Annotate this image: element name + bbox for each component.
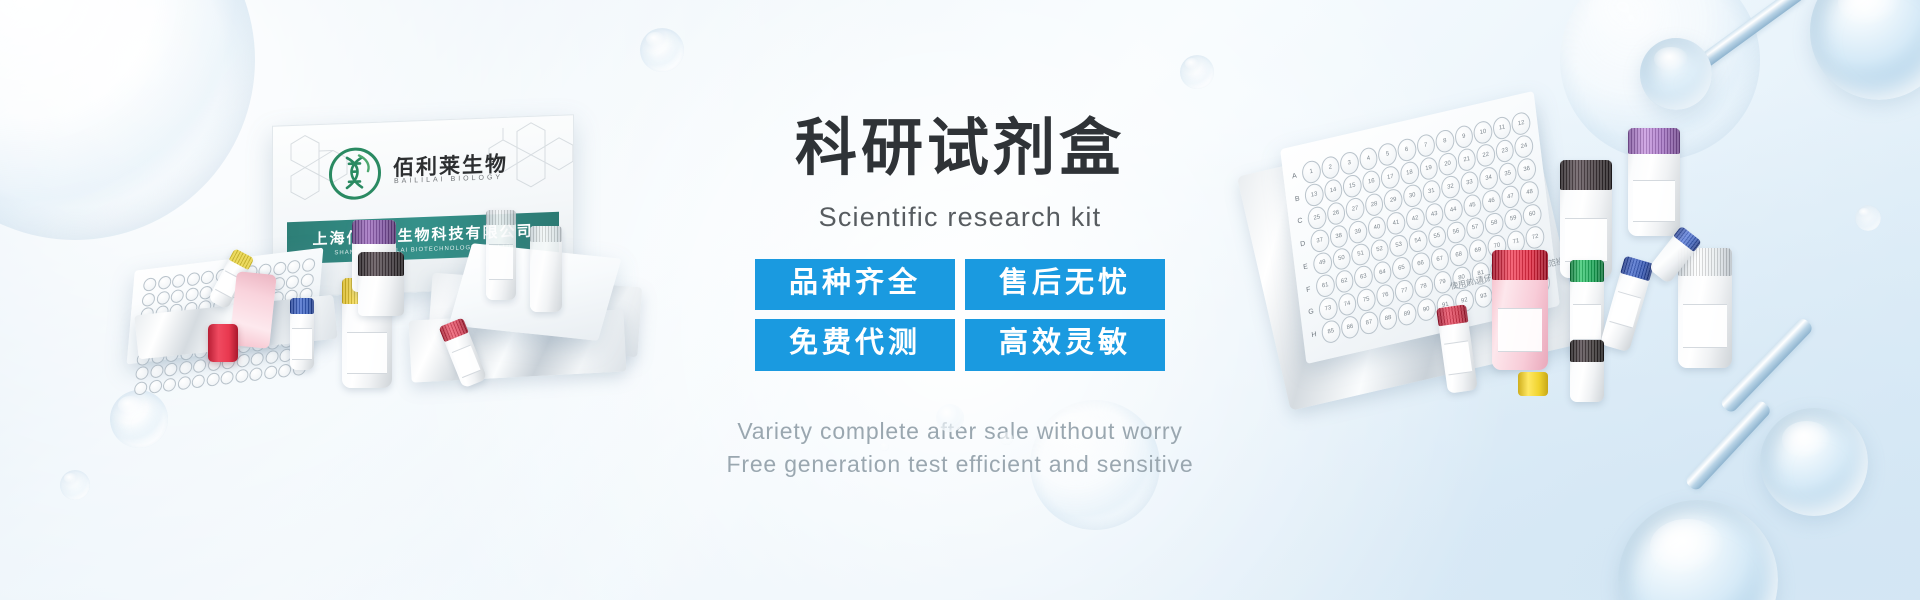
microplate-well: 58: [1484, 211, 1505, 237]
microplate-well: 47: [1500, 183, 1521, 209]
microplate-well: 33: [1459, 169, 1480, 195]
microplate-well: 24: [1514, 133, 1535, 159]
black-cap-vial: [1570, 340, 1604, 402]
microplate-well: 28: [1364, 191, 1385, 217]
microplate-well: 42: [1405, 205, 1426, 231]
vial-label: [1573, 304, 1600, 340]
yellow-cap-vial: [1518, 372, 1548, 396]
microplate-well: 60: [1522, 202, 1543, 228]
bubble-decoration: [1180, 55, 1214, 89]
microplate-well: [148, 379, 162, 394]
microplate-well: 87: [1359, 310, 1380, 336]
microplate-well: 18: [1399, 160, 1420, 186]
microplate-well: [141, 292, 155, 307]
microplate-well: 5: [1377, 141, 1398, 167]
molecule-atom: [1760, 408, 1868, 516]
vial-label: [1633, 180, 1675, 222]
vial-label: [292, 328, 311, 360]
microplate-well: [300, 272, 314, 287]
microplate-well: 36: [1516, 156, 1537, 182]
vial-label: [1683, 304, 1726, 348]
microplate-well: 45: [1462, 192, 1483, 218]
microplate-well: 29: [1383, 187, 1404, 213]
water-droplet-icon: [1000, 432, 1013, 445]
microplate-well: 59: [1503, 206, 1524, 232]
vial-cap: [1570, 340, 1604, 362]
vial-cap: [1620, 256, 1654, 282]
red-screw-cap: [208, 324, 238, 362]
microplate-well: [186, 272, 200, 287]
molecule-atom: [1640, 38, 1712, 110]
microplate-well: [287, 259, 301, 274]
microplate-well: [149, 364, 163, 379]
microplate-well: [249, 366, 263, 381]
page-title: 科研试剂盒: [560, 118, 1360, 180]
microplate-well: 22: [1475, 142, 1496, 168]
vial-label: [1444, 340, 1472, 375]
microplate-well: [156, 290, 170, 305]
microplate-well: 69: [1468, 238, 1489, 264]
clear-vial: [486, 210, 516, 300]
microplate-well: 93: [1473, 284, 1494, 310]
microplate-well: 46: [1481, 188, 1502, 214]
molecule-bond: [1684, 399, 1773, 493]
microplate-well: 90: [1416, 297, 1437, 323]
vial-cap: [352, 220, 396, 244]
microplate-well: 23: [1494, 138, 1515, 164]
microplate-well: [200, 270, 214, 285]
microplate-well: 72: [1525, 225, 1546, 251]
microplate-well: [234, 368, 248, 383]
red-cap-bottle: [1492, 250, 1548, 370]
microplate-well: [191, 373, 205, 388]
microplate-well: [250, 352, 264, 367]
feature-badge-row: 免费代测 高效灵敏: [755, 319, 1165, 370]
microplate-well: [301, 258, 315, 273]
microplate-well: 54: [1407, 228, 1428, 254]
microplate-well: [134, 380, 148, 395]
water-droplet-icon: [880, 442, 889, 451]
microplate-well: 68: [1448, 242, 1469, 268]
microplate-well: 66: [1410, 251, 1431, 277]
microplate-well: 56: [1446, 219, 1467, 245]
blue-cap-vial: [290, 298, 314, 370]
vial-cap: [530, 226, 562, 242]
feature-badge-variety[interactable]: 品种齐全: [755, 259, 955, 310]
microplate-well: 48: [1519, 179, 1540, 205]
microplate-well: [178, 360, 192, 375]
microplate-well: 41: [1386, 210, 1407, 236]
vial-label: [489, 244, 513, 280]
microplate-well: 9: [1454, 124, 1475, 150]
microplate-well: 19: [1418, 155, 1439, 181]
microplate-well: 67: [1429, 247, 1450, 273]
microplate-well: 21: [1456, 147, 1477, 173]
molecule-atom: [1810, 0, 1920, 100]
microplate-well: 4: [1358, 146, 1379, 172]
microplate-well: 53: [1388, 233, 1409, 259]
microplate-well: 76: [1375, 283, 1396, 309]
microplate-well: 88: [1378, 306, 1399, 332]
microplate-well: 40: [1367, 214, 1388, 240]
microplate-well: 55: [1427, 224, 1448, 250]
microplate-well: [164, 362, 178, 377]
microplate-well: 57: [1465, 215, 1486, 241]
dna-helix-logo: [329, 147, 381, 201]
microplate-well: [285, 274, 299, 289]
microplate-well: 65: [1391, 255, 1412, 281]
dark-cap-bottle: [358, 252, 404, 316]
microplate-well: 78: [1413, 274, 1434, 300]
microplate-well: [193, 359, 207, 374]
microplate-well: 31: [1421, 178, 1442, 204]
feature-badge-free-test[interactable]: 免费代测: [755, 319, 955, 370]
microplate-well: 12: [1511, 111, 1532, 137]
microplate-well: 89: [1397, 301, 1418, 327]
microplate-well: [185, 287, 199, 302]
microplate-well: [177, 375, 191, 390]
microplate-well: 10: [1473, 119, 1494, 145]
microplate-well: [143, 277, 157, 292]
vial-label: [1498, 308, 1543, 352]
microplate-well: 20: [1437, 151, 1458, 177]
white-bottle: [1678, 248, 1732, 368]
microplate-well: 7: [1415, 133, 1436, 159]
vial-cap: [1628, 128, 1680, 154]
dna-helix-icon: [329, 147, 381, 201]
microplate-well: [263, 365, 277, 380]
microplate-well: [157, 275, 171, 290]
microplate-well: 11: [1492, 115, 1513, 141]
microplate-well: 77: [1394, 278, 1415, 304]
feature-badge-group: 品种齐全 售后无忧 免费代测 高效灵敏: [560, 259, 1360, 371]
microplate-well: 35: [1497, 161, 1518, 187]
vial-label: [347, 332, 387, 374]
vial-label: [1565, 218, 1607, 262]
microplate-well: [170, 288, 184, 303]
microplate-well: [220, 370, 234, 385]
microplate-well: [206, 372, 220, 387]
microplate-well: 44: [1443, 197, 1464, 223]
vial-label: [1609, 291, 1641, 328]
microplate-well: [265, 350, 279, 365]
vial-cap: [1492, 250, 1548, 280]
page-subtitle: Scientific research kit: [560, 202, 1360, 233]
microplate-well: 32: [1440, 174, 1461, 200]
feature-badge-row: 品种齐全 售后无忧: [755, 259, 1165, 310]
microplate-well: 34: [1478, 165, 1499, 191]
microplate-well: 30: [1402, 183, 1423, 209]
vial-cap: [486, 210, 516, 225]
microplate-well: 16: [1361, 169, 1382, 195]
feature-badge-sensitive[interactable]: 高效灵敏: [965, 319, 1165, 370]
footer-line-2: Free generation test efficient and sensi…: [560, 448, 1360, 481]
promo-banner: 佰利莱生物 BAILILAI BIOLOGY 上海佰利莱生物科技有限公司 SHA…: [0, 0, 1920, 600]
bubble-decoration: [1855, 205, 1881, 231]
microplate-well: 43: [1424, 201, 1445, 227]
vial-cap: [358, 252, 404, 276]
microplate-well: 17: [1380, 164, 1401, 190]
microplate-well: [172, 274, 186, 289]
microplate-well: 64: [1372, 260, 1393, 286]
vial-cap: [290, 298, 314, 314]
molecule-atom: [1618, 500, 1778, 600]
vial-cap: [1570, 260, 1604, 282]
purple-cap-bottle: [1628, 128, 1680, 236]
bubble-decoration: [60, 470, 90, 500]
feature-badge-after-sale[interactable]: 售后无忧: [965, 259, 1165, 310]
white-cap-vial: [530, 226, 562, 312]
microplate-well: 52: [1369, 237, 1390, 263]
vial-cap: [1436, 304, 1468, 326]
microplate-well: 8: [1434, 128, 1455, 154]
microplate-well: [272, 261, 286, 276]
microplate-well: [163, 377, 177, 392]
microplate-well: [135, 366, 149, 381]
water-droplet-icon: [936, 404, 964, 432]
bubble-decoration: [640, 28, 684, 72]
vial-cap: [1560, 160, 1612, 190]
microplate-well: 6: [1396, 137, 1417, 163]
